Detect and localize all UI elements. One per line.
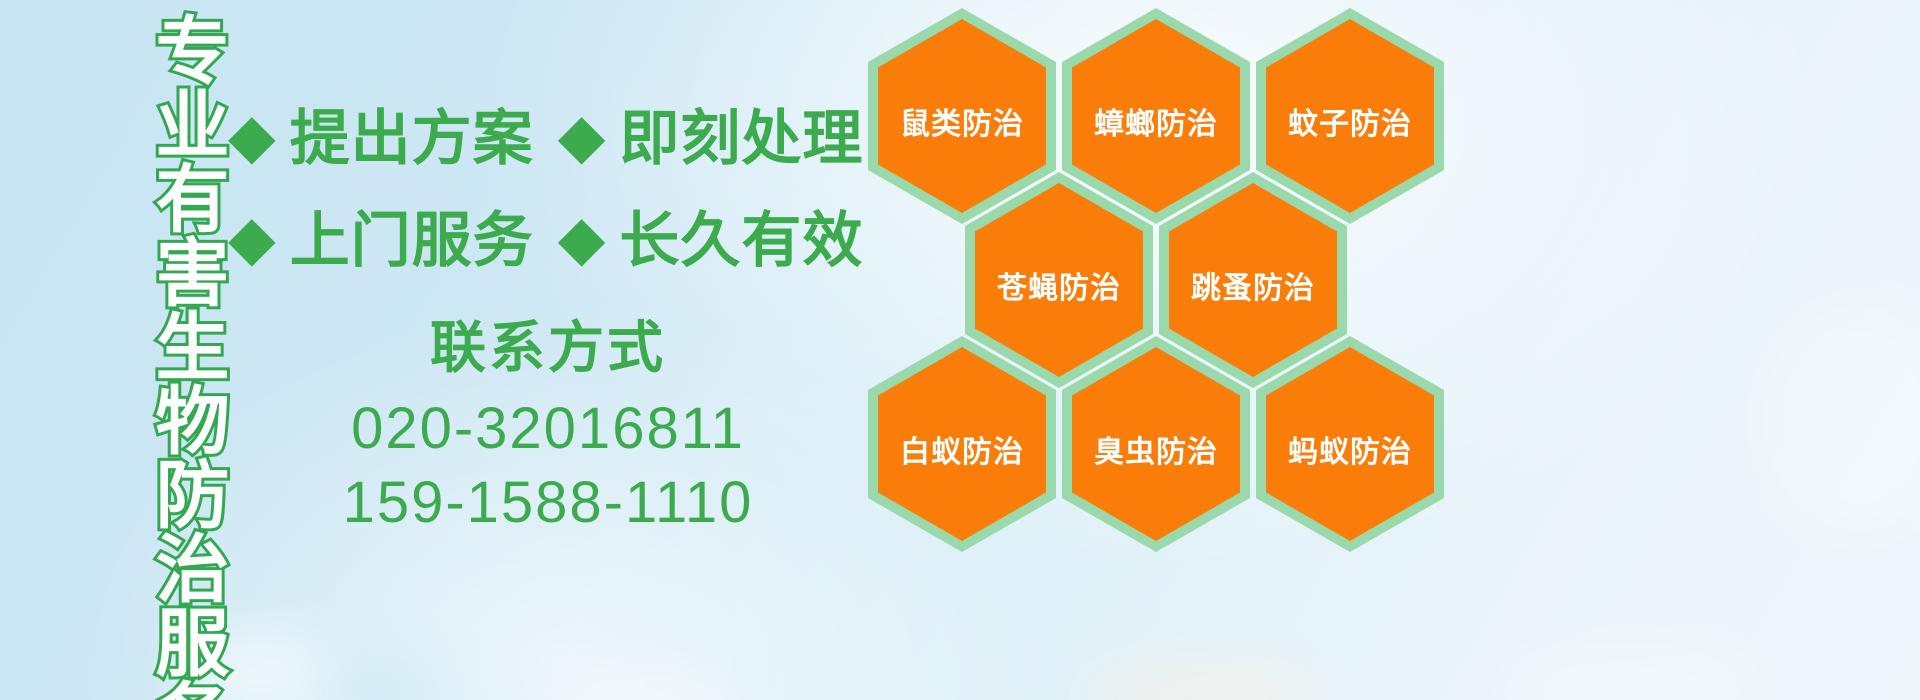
background-bokeh-blob	[1080, 660, 1320, 700]
hex-inner-fill: 鼠类防治	[878, 19, 1046, 213]
feature-list: ◆ 提出方案 ◆ 即刻处理 ◆ 上门服务 ◆ 长久有效	[228, 88, 868, 292]
hex-cell-label: 蚊子防治	[1288, 108, 1412, 142]
background-bokeh-blob	[540, 670, 740, 700]
hex-cell-label: 白蚁防治	[900, 436, 1024, 470]
feature-item-long-lasting: ◆ 长久有效	[558, 210, 864, 272]
feature-item-onsite-service: ◆ 上门服务	[228, 210, 534, 272]
phone-number-landline[interactable]: 020-32016811	[228, 392, 868, 466]
hex-inner-fill: 臭虫防治	[1072, 347, 1240, 541]
hex-cell-label: 苍蝇防治	[997, 272, 1121, 306]
diamond-bullet-icon: ◆	[558, 208, 606, 270]
contact-block: 联系方式 020-32016811 159-1588-1110	[228, 316, 868, 540]
feature-item-propose-plan: ◆ 提出方案	[228, 108, 534, 170]
pest-control-service-banner: 专业有害生物防治服务 ◆ 提出方案 ◆ 即刻处理 ◆ 上门服务 ◆ 长久有效 联…	[0, 0, 1920, 700]
hex-cell-label: 蚂蚁防治	[1288, 436, 1412, 470]
hex-cell-label: 鼠类防治	[900, 108, 1024, 142]
vertical-headline: 专业有害生物防治服务	[112, 12, 220, 557]
hex-inner-fill: 蟑螂防治	[1072, 19, 1240, 213]
background-bokeh-blob	[1760, 300, 1920, 540]
hex-cell-label: 蟑螂防治	[1094, 108, 1218, 142]
feature-label: 长久有效	[619, 210, 863, 272]
hex-inner-fill: 蚂蚁防治	[1266, 347, 1434, 541]
feature-label: 上门服务	[290, 210, 534, 272]
hex-inner-fill: 蚊子防治	[1266, 19, 1434, 213]
feature-row: ◆ 上门服务 ◆ 长久有效	[228, 190, 868, 292]
diamond-bullet-icon: ◆	[228, 106, 276, 168]
feature-row: ◆ 提出方案 ◆ 即刻处理	[228, 88, 868, 190]
feature-label: 提出方案	[290, 108, 534, 170]
diamond-bullet-icon: ◆	[228, 208, 276, 270]
contact-heading: 联系方式	[228, 316, 868, 380]
hex-cell-label: 臭虫防治	[1094, 436, 1218, 470]
diamond-bullet-icon: ◆	[558, 106, 606, 168]
feature-label: 即刻处理	[619, 108, 863, 170]
hex-inner-fill: 跳蚤防治	[1169, 183, 1337, 377]
hex-inner-fill: 苍蝇防治	[975, 183, 1143, 377]
hex-inner-fill: 白蚁防治	[878, 347, 1046, 541]
background-bokeh-blob	[330, 655, 450, 700]
service-honeycomb-grid: 鼠类防治 蟑螂防治 蚊子防治 苍蝇防治 跳蚤防治 白蚁防治	[862, 0, 1462, 560]
feature-item-immediate-handling: ◆ 即刻处理	[558, 108, 864, 170]
phone-number-mobile[interactable]: 159-1588-1110	[228, 466, 868, 540]
hex-cell-label: 跳蚤防治	[1191, 272, 1315, 306]
background-bokeh-blob	[1500, 640, 1760, 700]
